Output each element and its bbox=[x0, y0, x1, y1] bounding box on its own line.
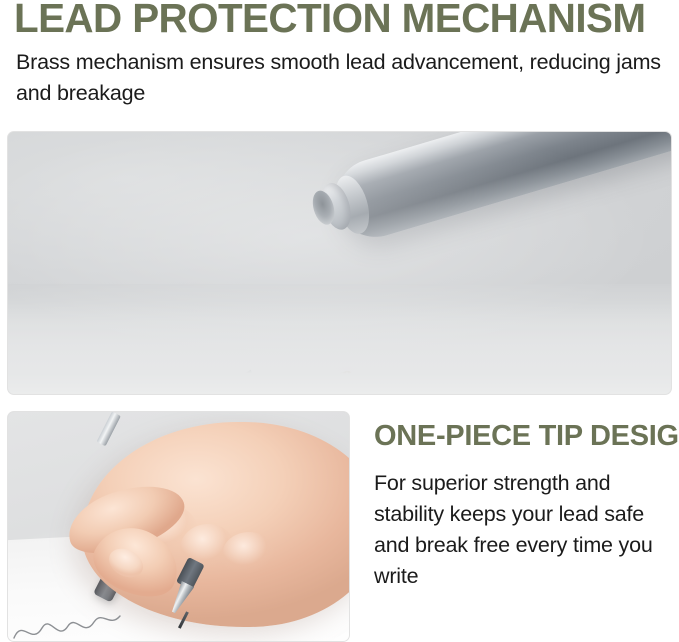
floor-fade bbox=[8, 302, 671, 394]
page-title: LEAD PROTECTION MECHANISM bbox=[14, 0, 664, 41]
hero-scene bbox=[8, 132, 671, 394]
feature-title: ONE-PIECE TIP DESIGN bbox=[374, 420, 674, 453]
writing-scene bbox=[8, 412, 349, 641]
hero-subcopy: Brass mechanism ensures smooth lead adva… bbox=[16, 47, 666, 108]
pencil-stroke-squiggle bbox=[10, 598, 160, 641]
lead-protection-mechanism-image bbox=[7, 131, 672, 395]
feature-copy: For superior strength and stability keep… bbox=[374, 468, 674, 592]
one-piece-tip-design-image bbox=[7, 411, 350, 642]
knuckle-highlight bbox=[222, 532, 276, 578]
